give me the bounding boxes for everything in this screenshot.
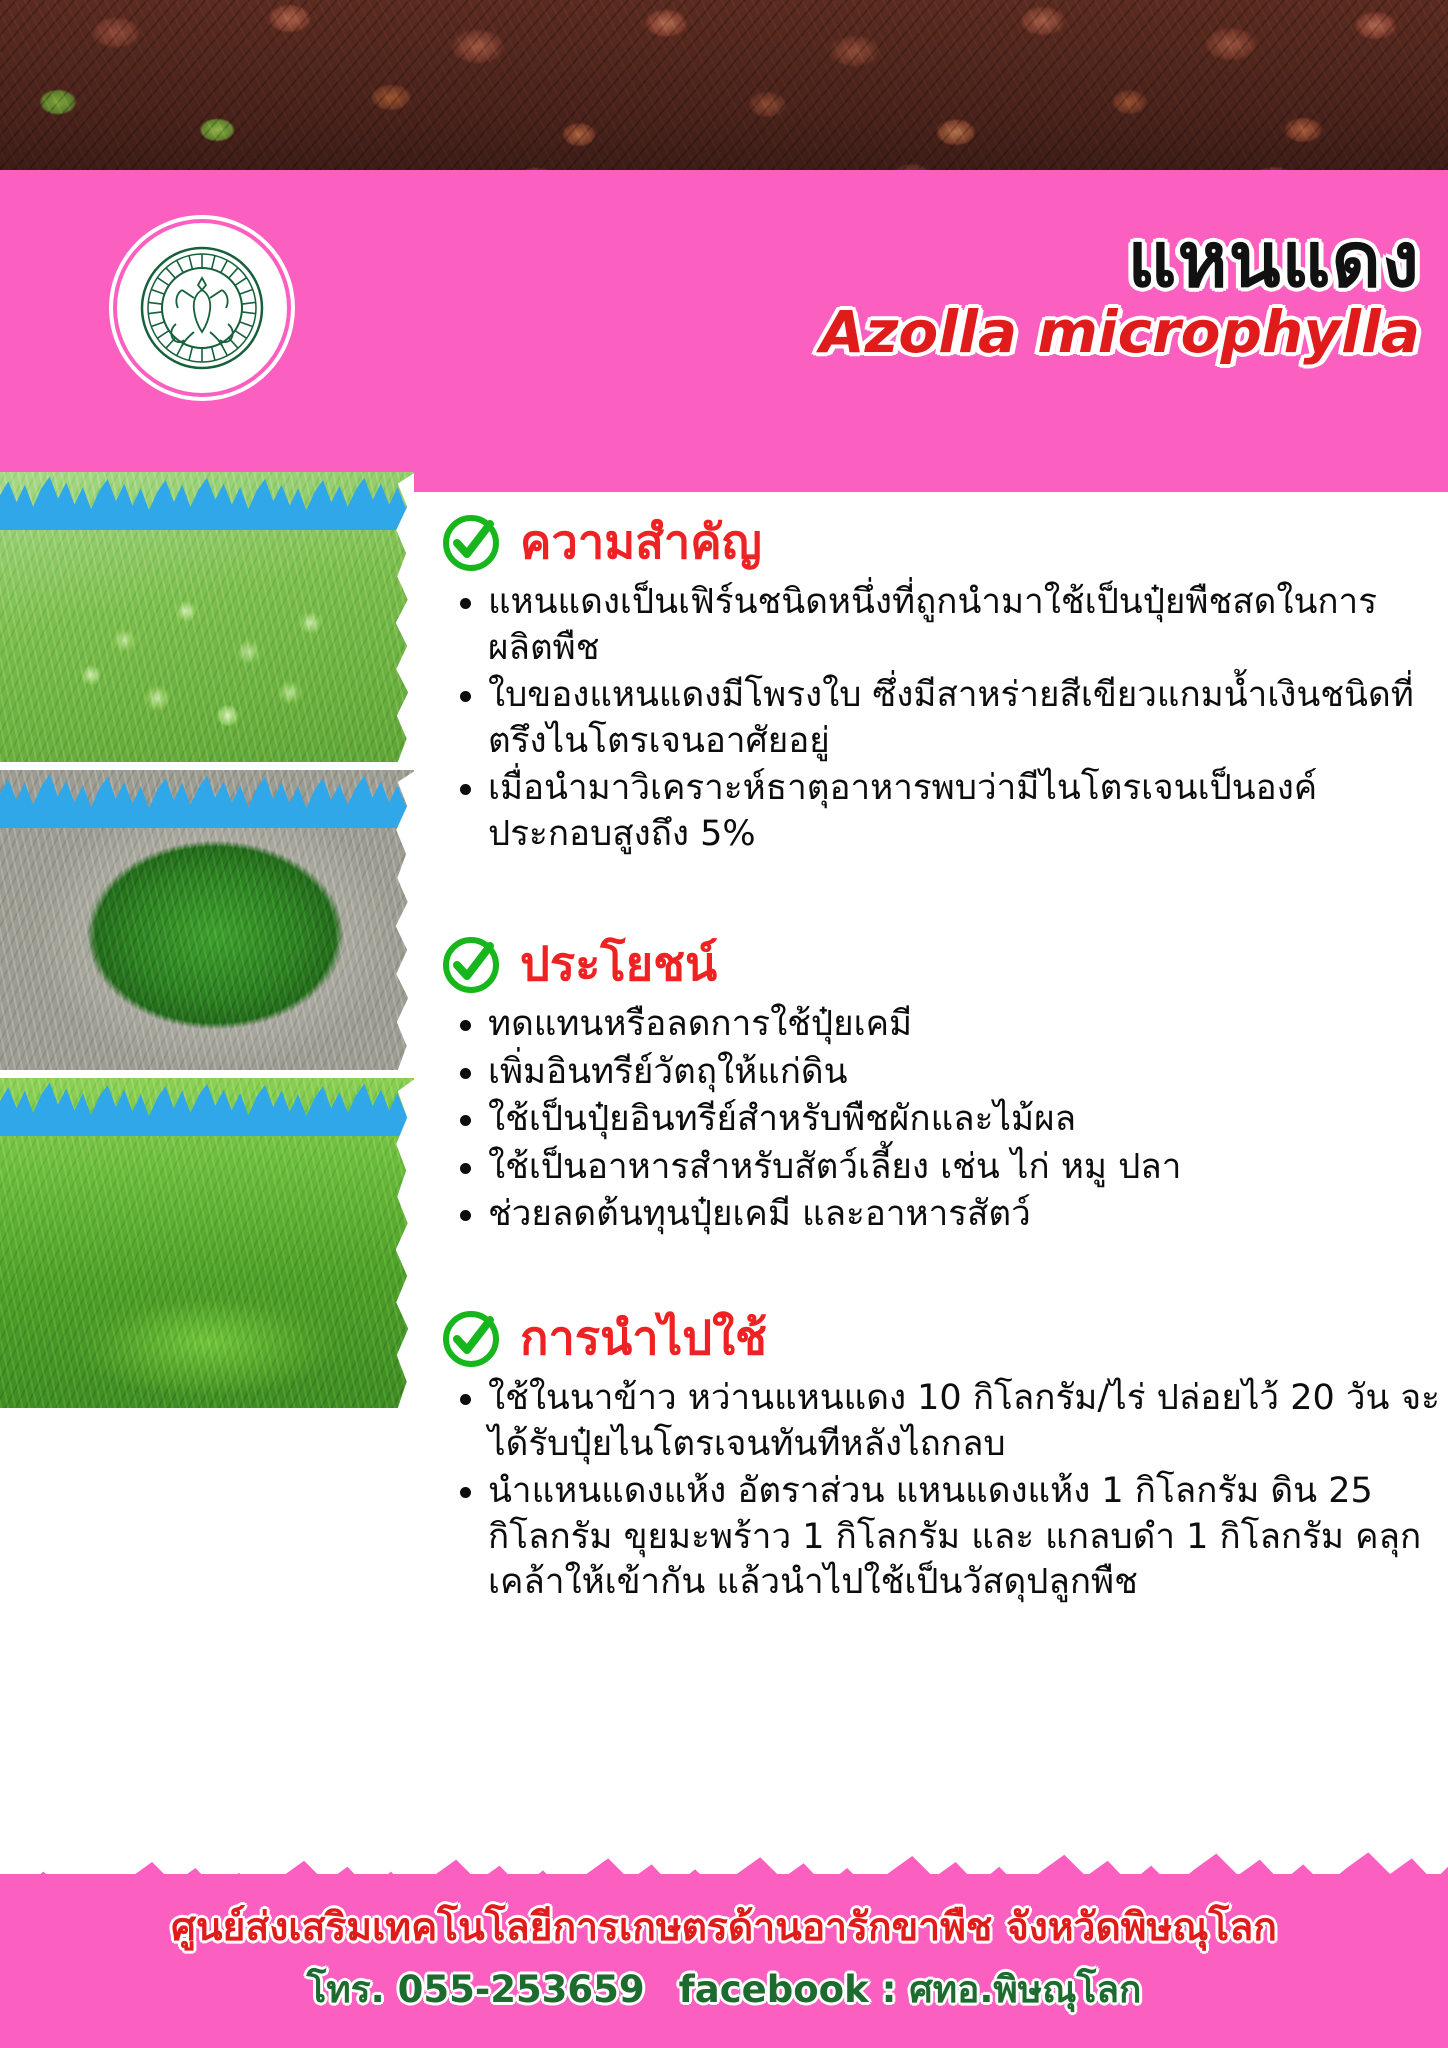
list-item: นำแหนแดงแห้ง อัตราส่วน แหนแดงแห้ง 1 กิโล… (448, 1469, 1440, 1606)
list-item: ใช้เป็นอาหารสำหรับสัตว์เลี้ยง เช่น ไก่ ห… (448, 1145, 1440, 1191)
list-item: ใช้ในนาข้าว หว่านแหนแดง 10 กิโลกรัม/ไร่ … (448, 1376, 1440, 1467)
facebook-handle[interactable]: facebook : ศทอ.พิษณุโลก (679, 1968, 1142, 2011)
section-title: การนำไปใช้ (520, 1314, 767, 1363)
list-item: แหนแดงเป็นเฟิร์นชนิดหนึ่งที่ถูกนำมาใช้เป… (448, 580, 1440, 671)
list-item: ใช้เป็นปุ๋ยอินทรีย์สำหรับพืชผักและไม้ผล (448, 1097, 1440, 1143)
list-item: เมื่อนำมาวิเคราะห์ธาตุอาหารพบว่ามีไนโตรเ… (448, 766, 1440, 857)
contact-line: โทร. 055-253659facebook : ศทอ.พิษณุโลก (0, 1960, 1448, 2019)
section-importance: ความสำคัญ แหนแดงเป็นเฟิร์นชนิดหนึ่งที่ถู… (440, 512, 1440, 859)
green-check-circle-icon (440, 512, 502, 574)
bullet-list: ใช้ในนาข้าว หว่านแหนแดง 10 กิโลกรัม/ไร่ … (440, 1376, 1440, 1606)
list-item: ทดแทนหรือลดการใช้ปุ๋ยเคมี (448, 1002, 1440, 1048)
section-benefits: ประโยชน์ ทดแทนหรือลดการใช้ปุ๋ยเคมี เพิ่ม… (440, 934, 1440, 1240)
page-title-thai: แหนแดง (520, 222, 1420, 298)
green-check-circle-icon (440, 934, 502, 996)
section-usage: การนำไปใช้ ใช้ในนาข้าว หว่านแหนแดง 10 กิ… (440, 1308, 1440, 1608)
phone-number[interactable]: โทร. 055-253659 (307, 1968, 645, 2011)
footer-band: ศูนย์ส่งเสริมเทคโนโลยีการเกษตรด้านอารักข… (0, 1874, 1448, 2048)
list-item: ช่วยลดต้นทุนปุ๋ยเคมี และอาหารสัตว์ (448, 1192, 1440, 1238)
azolla-in-cement-ring-photo (0, 770, 414, 1070)
main-content-area: ความสำคัญ แหนแดงเป็นเฟิร์นชนิดหนึ่งที่ถู… (0, 492, 1448, 1874)
section-title: ความสำคัญ (520, 518, 762, 567)
azolla-closeup-photo (0, 472, 414, 762)
list-item: เพิ่มอินทรีย์วัตถุให้แก่ดิน (448, 1050, 1440, 1096)
section-header: ประโยชน์ (440, 934, 1440, 996)
title-block: แหนแดง Azolla microphylla (520, 222, 1420, 363)
poster-root: แหนแดง Azolla microphylla (0, 0, 1448, 2048)
page-title-scientific: Azolla microphylla (520, 302, 1420, 363)
green-check-circle-icon (440, 1308, 502, 1370)
list-item: ใบของแหนแดงมีโพรงใบ ซึ่งมีสาหร่ายสีเขียว… (448, 673, 1440, 764)
section-title: ประโยชน์ (520, 940, 717, 989)
bullet-list: ทดแทนหรือลดการใช้ปุ๋ยเคมี เพิ่มอินทรีย์ว… (440, 1002, 1440, 1238)
section-header: การนำไปใช้ (440, 1308, 1440, 1370)
azolla-in-rice-field-photo (0, 1078, 414, 1408)
section-header: ความสำคัญ (440, 512, 1440, 574)
organization-name: ศูนย์ส่งเสริมเทคโนโลยีการเกษตรด้านอารักข… (0, 1896, 1448, 1958)
doae-royal-seal-logo (122, 228, 282, 388)
bullet-list: แหนแดงเป็นเฟิร์นชนิดหนึ่งที่ถูกนำมาใช้เป… (440, 580, 1440, 857)
